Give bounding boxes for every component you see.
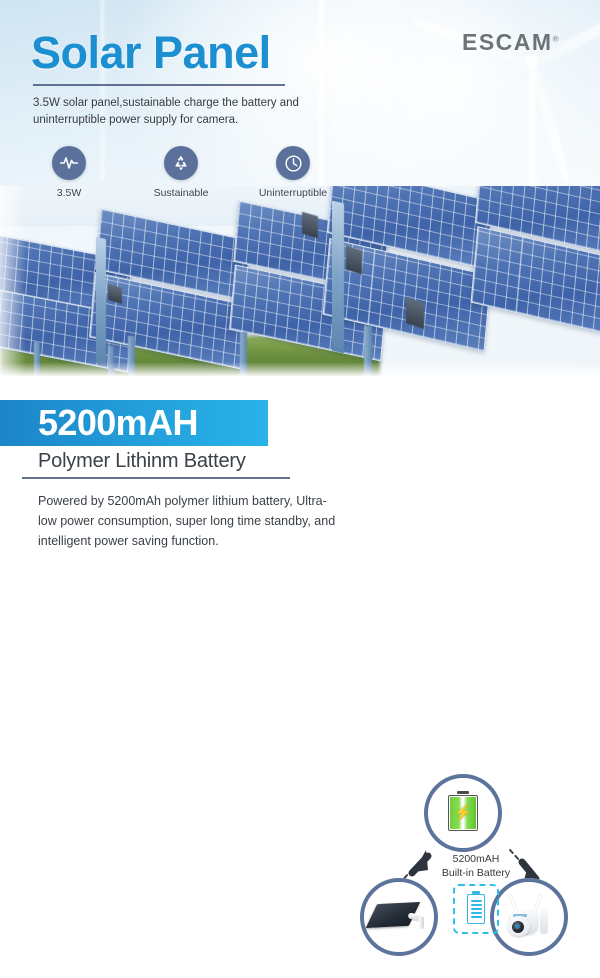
diagram-center-line2: Built-in Battery bbox=[408, 866, 544, 880]
battery-description: Powered by 5200mAh polymer lithium batte… bbox=[38, 491, 338, 551]
diagram-center-line1: 5200mAH bbox=[408, 852, 544, 866]
feature-label-power: 3.5W bbox=[57, 187, 82, 199]
solar-panel-icon bbox=[372, 897, 426, 937]
solar-array-photo bbox=[0, 186, 600, 378]
recycle-icon bbox=[164, 146, 198, 180]
feature-item-uninterruptible: Uninterruptible bbox=[257, 146, 329, 199]
solar-panel-node bbox=[360, 878, 438, 956]
feature-list: 3.5W Sustainable bbox=[33, 146, 329, 199]
hero-description: 3.5W solar panel,sustainable charge the … bbox=[33, 95, 363, 128]
diagram-center-label: 5200mAH Built-in Battery bbox=[408, 852, 544, 880]
power-flow-diagram: ⚡ bbox=[352, 766, 600, 978]
feature-item-sustainable: Sustainable bbox=[145, 146, 217, 199]
feature-item-power: 3.5W bbox=[33, 146, 105, 199]
battery-subtitle-divider bbox=[22, 477, 290, 479]
capacity-banner-text: 5200mAH bbox=[38, 405, 198, 441]
security-camera-icon bbox=[500, 894, 558, 940]
builtin-battery-icon bbox=[453, 884, 499, 934]
battery-section: 5200mAH Polymer Lithinm Battery Powered … bbox=[0, 378, 600, 600]
battery-node: ⚡ bbox=[424, 774, 502, 852]
feature-label-uninterruptible: Uninterruptible bbox=[259, 187, 327, 199]
camera-node bbox=[490, 878, 568, 956]
hero-section: ESCAM® Solar Panel 3.5W solar panel,sust… bbox=[0, 0, 600, 378]
page-title: Solar Panel bbox=[31, 30, 271, 75]
battery-subtitle: Polymer Lithinm Battery bbox=[38, 450, 246, 473]
green-battery-icon: ⚡ bbox=[448, 794, 478, 832]
trademark-symbol: ® bbox=[553, 34, 559, 43]
escam-logo: ESCAM® bbox=[462, 29, 558, 56]
title-divider bbox=[33, 84, 285, 86]
clock-icon bbox=[276, 146, 310, 180]
pulse-icon bbox=[52, 146, 86, 180]
feature-label-sustainable: Sustainable bbox=[154, 187, 209, 199]
capacity-banner: 5200mAH bbox=[0, 400, 268, 446]
escam-logo-text: ESCAM bbox=[462, 29, 553, 55]
